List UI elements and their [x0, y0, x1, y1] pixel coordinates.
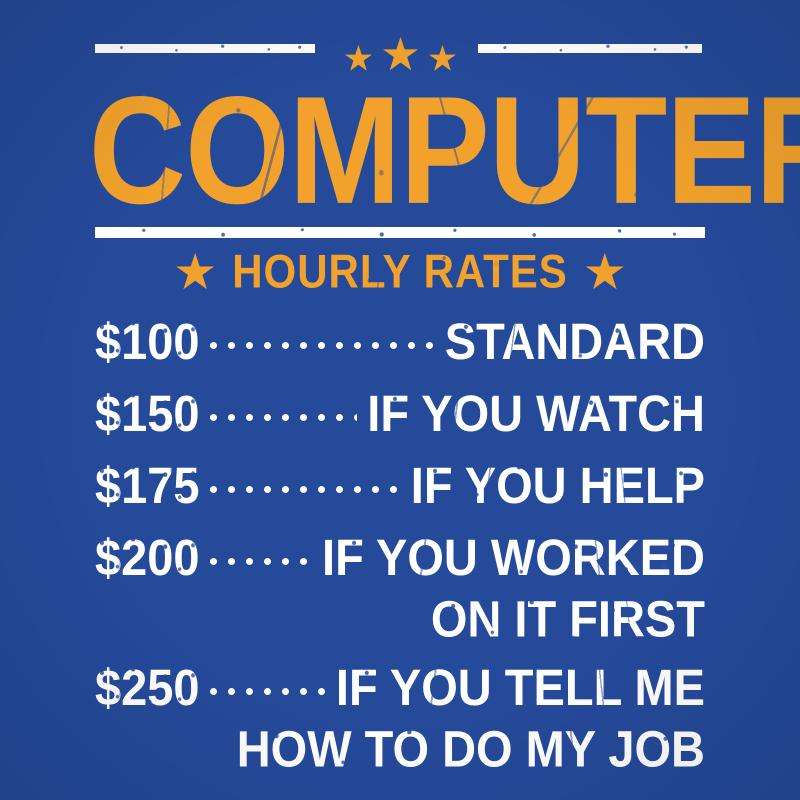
- rate-price: $250: [95, 660, 200, 716]
- subtitle-row: HOURLY RATES: [0, 248, 800, 296]
- rate-row: $250 IF YOU TELL ME: [95, 654, 705, 726]
- rate-service: IF YOU TELL ME: [336, 660, 705, 716]
- rate-continuation: HOW TO DO MY JOB: [237, 721, 705, 784]
- rate-row: $175 IF YOU HELP: [95, 452, 705, 524]
- top-rule-right: [478, 44, 702, 53]
- poster-title-text: COMPUTER PROGRAMMER: [89, 66, 711, 235]
- top-rule-left: [95, 44, 315, 53]
- dot-leader-icon: [210, 524, 312, 576]
- dot-leader-icon: [210, 380, 358, 432]
- rate-list: $100 STANDARD $150 IF YOU WATCH $175 IF …: [95, 308, 705, 784]
- poster-title: COMPUTER PROGRAMMER: [95, 66, 705, 235]
- rate-service: IF YOU HELP: [411, 458, 705, 514]
- rate-continuation-row: HOW TO DO MY JOB: [95, 726, 705, 784]
- poster-subtitle: HOURLY RATES: [232, 247, 568, 296]
- dot-leader-icon: [210, 452, 401, 504]
- rate-continuation: ON IT FIRST: [431, 591, 705, 654]
- rate-row: $200 IF YOU WORKED: [95, 524, 705, 596]
- poster-canvas: COMPUTER PROGRAMMER HOURLY RATES $100 ST…: [0, 0, 800, 800]
- rate-service: IF YOU WATCH: [367, 386, 705, 442]
- rate-service: STANDARD: [445, 314, 705, 370]
- star-icon-subtitle-left: [176, 253, 214, 291]
- rate-row: $150 IF YOU WATCH: [95, 380, 705, 452]
- rate-service: IF YOU WORKED: [322, 530, 705, 586]
- rate-price: $150: [95, 386, 200, 442]
- rate-price: $175: [95, 458, 200, 514]
- rate-price: $200: [95, 530, 200, 586]
- rate-price: $100: [95, 314, 200, 370]
- dot-leader-icon: [210, 308, 435, 360]
- star-icon-subtitle-right: [586, 253, 624, 291]
- rate-continuation-row: ON IT FIRST: [95, 596, 705, 654]
- dot-leader-icon: [210, 654, 326, 706]
- rate-row: $100 STANDARD: [95, 308, 705, 380]
- title-divider-rule: [95, 227, 705, 238]
